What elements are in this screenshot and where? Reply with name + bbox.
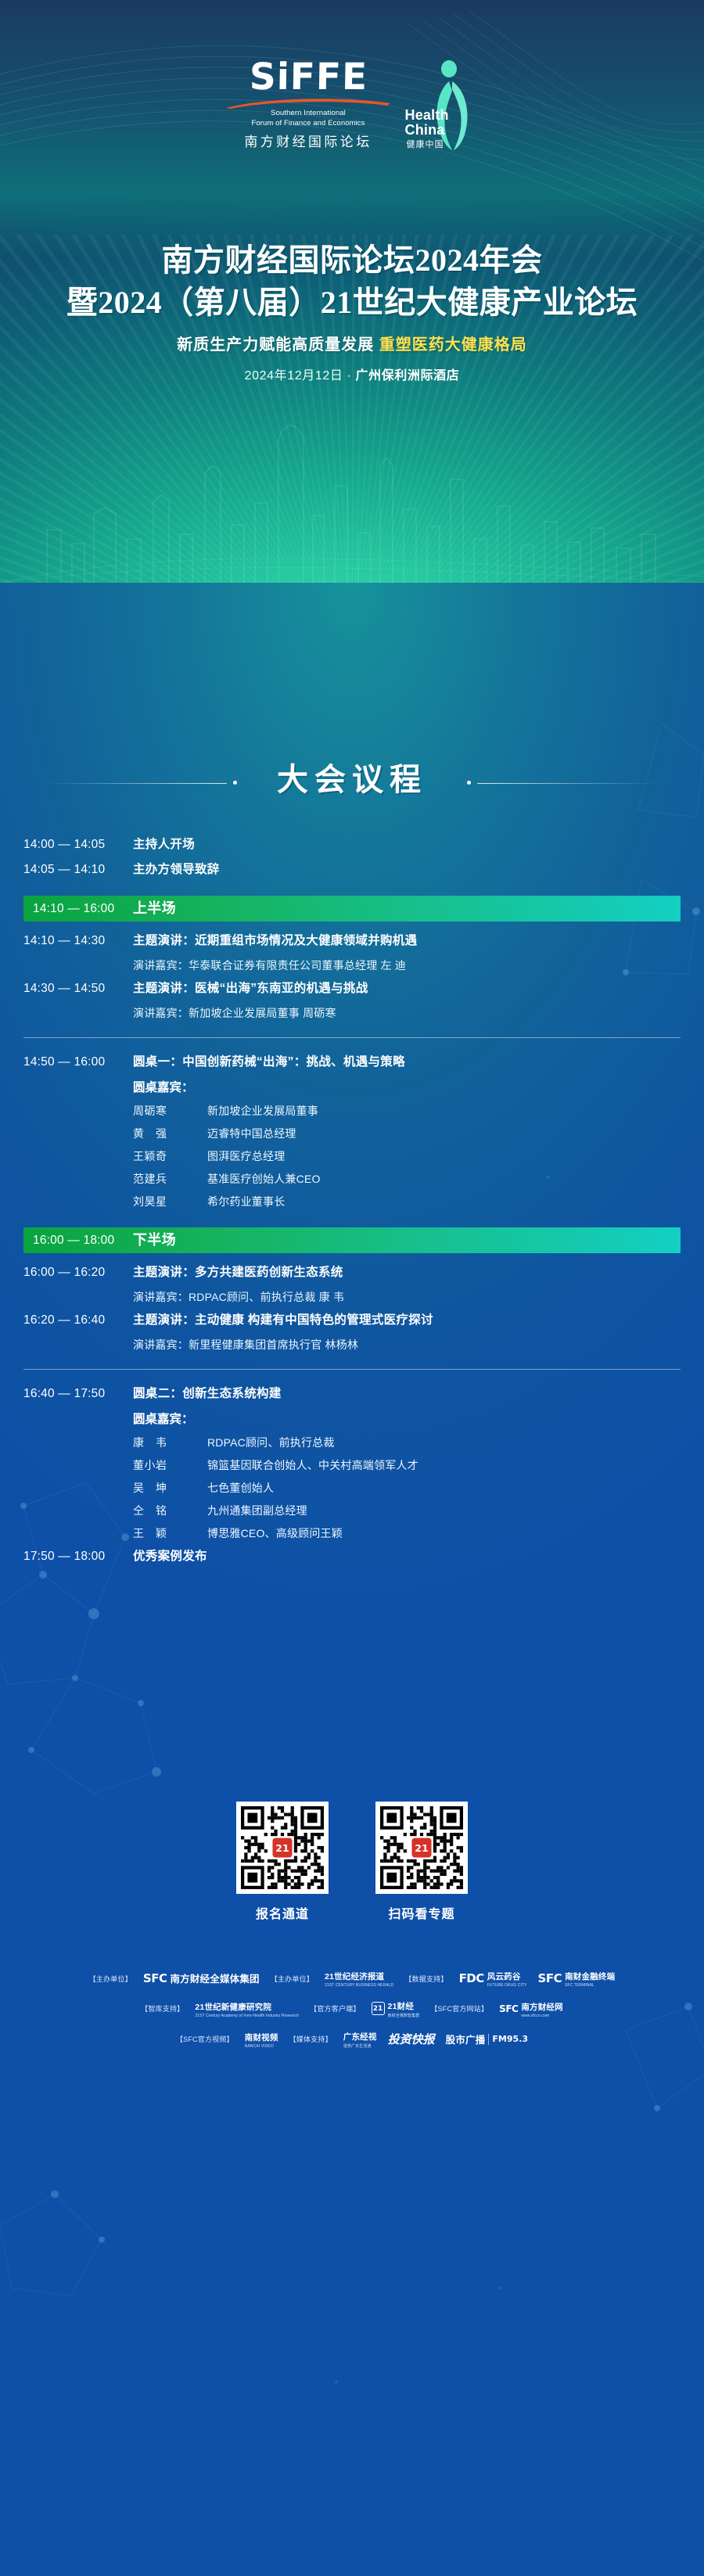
agenda-guest-name: 仝 铭 [133, 1500, 207, 1522]
agenda-guest: 王颖奇图湃医疗总经理 [133, 1145, 321, 1168]
heading-rule-left [47, 783, 227, 784]
sponsor-category-label: 【官方客户端】 [310, 2003, 360, 2014]
agenda-section-title: 下半场 [133, 1227, 176, 1253]
sponsor-name-cn: 21财经 [388, 2002, 414, 2011]
sponsor-category-label: 【主办单位】 [271, 1974, 314, 1984]
siffe-chinese: 南方财经国际论坛 [224, 131, 393, 150]
agenda-guest-role: 图湃医疗总经理 [207, 1145, 285, 1168]
agenda-row-title: 圆桌一：中国创新药械“出海”：挑战、机遇与策略 [133, 1051, 405, 1074]
subtitle-yellow-part: 重塑医药大健康格局 [379, 336, 527, 354]
health-china-text: Health China [405, 108, 449, 138]
sponsor-mark: SFC [538, 1971, 562, 1985]
agenda-guest-name: 王 颖 [133, 1522, 207, 1545]
sponsor-row: 【SFC官方视频】南财视频NANCAI VIDEO【媒体支持】广东经视强势广东生… [0, 2029, 704, 2049]
agenda-row-title: 主题演讲：主动健康 构建有中国特色的管理式医疗探讨 [133, 1309, 433, 1332]
sponsor-name-block: 南方财经网www.sfccn.com [521, 1999, 563, 2018]
agenda-row-title: 主题演讲：医械“出海”东南亚的机遇与挑战 [133, 977, 368, 1001]
agenda-guest: 范建兵基准医疗创始人兼CEO [133, 1168, 321, 1191]
sponsor-logo[interactable]: 2121财经南财全媒数智集群 [372, 1999, 420, 2018]
siffe-wordmark: SiFFE [224, 59, 393, 95]
agenda-speaker-row: 演讲嘉宾：新加坡企业发展局董事 周砺寒 [0, 1002, 704, 1025]
sponsor-category-label: 【媒体支持】 [289, 2034, 332, 2044]
agenda-guest: 吴 坤七色董创始人 [133, 1477, 418, 1500]
sponsor-logo[interactable]: 21世纪新健康研究院21ST Century Academy of Inno-H… [195, 1999, 299, 2018]
agenda-section-title: 上半场 [133, 896, 176, 922]
sponsor-name-cn: 南财视频 [245, 2033, 278, 2042]
agenda-speaker: 演讲嘉宾：华泰联合证券有限责任公司董事总经理 左 迪 [133, 954, 406, 977]
agenda-guests-label-row: 圆桌嘉宾： [0, 1407, 704, 1432]
agenda-row-title: 圆桌二：创新生态系统构建 [133, 1382, 282, 1406]
poster-date-venue: 2024年12月12日 · 广州保利洲际酒店 [0, 365, 704, 383]
agenda-guest-role: 基准医疗创始人兼CEO [207, 1168, 321, 1191]
agenda-guests-list: 康 韦RDPAC顾问、前执行总裁董小岩锦篮基因联合创始人、中关村高端领军人才吴 … [133, 1432, 418, 1545]
agenda-guests-label: 圆桌嘉宾： [133, 1407, 194, 1432]
qr-block[interactable]: 21报名通道 [236, 1802, 329, 1922]
sponsor-logo[interactable]: SFC南财金融终端SFC TERMINAL [538, 1969, 616, 1988]
sponsor-name-block: 21世纪经济报道21ST CENTURY BUSINESS HERALD [325, 1969, 393, 1988]
sponsor-name-cn: 南方财经网 [521, 2003, 563, 2012]
sponsor-row: 【智库支持】21世纪新健康研究院21ST Century Academy of … [0, 1999, 704, 2018]
agenda-row-title: 优秀案例发布 [133, 1545, 207, 1568]
sponsor-logo[interactable]: 投资快报 [388, 2031, 435, 2047]
agenda-list: 14:00 — 14:05主持人开场14:05 — 14:10主办方领导致辞14… [0, 833, 704, 1570]
agenda-row-title: 主办方领导致辞 [133, 858, 220, 882]
agenda-divider [23, 1369, 681, 1370]
sponsor-name-block: 南方财经全媒体集团 [170, 1971, 259, 1986]
sponsor-name-en: 21ST CENTURY BUSINESS HERALD [325, 1983, 393, 1988]
agenda-guest-role: 新加坡企业发展局董事 [207, 1100, 318, 1123]
sponsor-fm: FM95.3 [492, 2034, 528, 2044]
sponsor-mark: FDC [459, 1971, 484, 1985]
event-date: 2024年12月12日 [245, 369, 343, 383]
agenda-row: 16:20 — 16:40主题演讲：主动健康 构建有中国特色的管理式医疗探讨 [0, 1309, 704, 1332]
heading-rule-right [477, 783, 657, 784]
sponsor-name-en: NANCAI VIDEO [245, 2044, 278, 2049]
agenda-guest: 刘昊星希尔药业董事长 [133, 1191, 321, 1213]
agenda-guest-role: 锦篮基因联合创始人、中关村高端领军人才 [207, 1454, 418, 1477]
agenda-guest-role: 迈睿特中国总经理 [207, 1123, 296, 1145]
agenda-speaker: 演讲嘉宾：RDPAC顾问、前执行总裁 康 韦 [133, 1286, 344, 1309]
qr-code-row: 21报名通道21扫码看专题 [0, 1802, 704, 1922]
sponsor-name-block: 广东经视强势广东生活通 [343, 2029, 377, 2049]
qr-caption: 扫码看专题 [375, 1903, 468, 1922]
heading-dot-left [233, 781, 237, 785]
agenda-speaker: 演讲嘉宾：新里程健康集团首席执行官 林杨林 [133, 1334, 358, 1356]
sponsor-category-label: 【智库支持】 [141, 2003, 184, 2014]
siffe-english-line2: Forum of Finance and Economics [224, 119, 393, 128]
agenda-row-time: 14:00 — 14:05 [23, 833, 133, 857]
qr-code-icon[interactable]: 21 [375, 1802, 468, 1894]
agenda-row: 14:10 — 14:30主题演讲：近期重组市场情况及大健康领域并购机遇 [0, 929, 704, 953]
sponsor-name-en: SFC TERMINAL [565, 1983, 615, 1988]
subtitle-white-part: 新质生产力赋能高质量发展 [177, 336, 374, 354]
agenda-row-time: 16:40 — 17:50 [23, 1382, 133, 1406]
siffe-english-line1: Southern International [224, 109, 393, 118]
agenda-guest-role: 九州通集团副总经理 [207, 1500, 307, 1522]
qr-code-icon[interactable]: 21 [236, 1802, 329, 1894]
poster-subtitle: 新质生产力赋能高质量发展 重塑医药大健康格局 [0, 332, 704, 354]
agenda-guest-name: 王颖奇 [133, 1145, 207, 1168]
sponsor-name-en: 南财全媒数智集群 [388, 2013, 420, 2018]
agenda-guest-name: 周砺寒 [133, 1100, 207, 1123]
sponsor-name-cn: 股市广播 [446, 2035, 486, 2046]
logo-row: SiFFE Southern International Forum of Fi… [0, 49, 704, 150]
date-venue-separator: · [347, 369, 352, 383]
agenda-guest-name: 康 韦 [133, 1432, 207, 1454]
agenda-guest-role: RDPAC顾问、前执行总裁 [207, 1432, 335, 1454]
agenda-row: 14:05 — 14:10主办方领导致辞 [0, 858, 704, 882]
agenda-row: 17:50 — 18:00优秀案例发布 [0, 1545, 704, 1568]
sponsor-category-label: 【SFC官方网站】 [430, 2003, 488, 2014]
agenda-row: 14:50 — 16:00圆桌一：中国创新药械“出海”：挑战、机遇与策略 [0, 1051, 704, 1074]
agenda-row: 16:40 — 17:50圆桌二：创新生态系统构建 [0, 1382, 704, 1406]
sponsor-name-en: 21ST Century Academy of Inno-Health Indu… [195, 2014, 299, 2018]
sponsor-category-label: 【主办单位】 [89, 1974, 132, 1984]
divider-line [488, 2034, 489, 2045]
sponsor-name-block: 21财经南财全媒数智集群 [388, 1999, 420, 2018]
svg-text:21: 21 [275, 1842, 289, 1854]
agenda-row-time: 14:30 — 14:50 [23, 977, 133, 1001]
poster-root: SiFFE Southern International Forum of Fi… [0, 0, 704, 2576]
agenda-row-title: 主题演讲：近期重组市场情况及大健康领域并购机遇 [133, 929, 417, 953]
agenda-row: 16:00 — 16:20主题演讲：多方共建医药创新生态系统 [0, 1261, 704, 1284]
sponsor-name-block: 南财金融终端SFC TERMINAL [565, 1969, 615, 1988]
poster-title-line1: 南方财经国际论坛2024年会 [0, 235, 704, 280]
agenda-row-time: 14:05 — 14:10 [23, 858, 133, 882]
sponsor-logo[interactable]: 南财视频NANCAI VIDEO [245, 2030, 278, 2049]
sponsor-name-en: 强势广东生活通 [343, 2043, 377, 2049]
sponsor-name-cn: 广东经视 [343, 2032, 377, 2042]
sponsor-name-cn: 南财金融终端 [565, 1972, 615, 1981]
sponsor-name-cn: 风云药谷 [487, 1972, 521, 1981]
agenda-guest-name: 黄 强 [133, 1123, 207, 1145]
badge-21-icon: 21 [372, 2002, 385, 2015]
agenda-guest-role: 七色董创始人 [207, 1477, 274, 1500]
sponsor-name-en: FUTURE DRUG CITY [487, 1983, 527, 1988]
sponsor-mark: SFC [143, 1971, 167, 1985]
agenda-guest: 董小岩锦篮基因联合创始人、中关村高端领军人才 [133, 1454, 418, 1477]
agenda-row-time: 16:20 — 16:40 [23, 1309, 133, 1332]
agenda-row-time: 14:10 — 14:30 [23, 929, 133, 953]
agenda-guests-list: 周砺寒新加坡企业发展局董事黄 强迈睿特中国总经理王颖奇图湃医疗总经理范建兵基准医… [133, 1100, 321, 1213]
sponsor-footer: 【主办单位】SFC南方财经全媒体集团【主办单位】21世纪经济报道21ST CEN… [0, 1969, 704, 2060]
sponsor-mark: SFC [499, 2003, 518, 2014]
agenda-guest: 康 韦RDPAC顾问、前执行总裁 [133, 1432, 418, 1454]
heading-dot-right [467, 781, 471, 785]
sponsor-logo[interactable]: FDC风云药谷FUTURE DRUG CITY [459, 1969, 527, 1988]
health-china-chinese: 健康中国 [407, 138, 444, 150]
sponsor-logo[interactable]: 广东经视强势广东生活通 [343, 2029, 377, 2049]
sponsor-category-label: 【数据支持】 [404, 1974, 447, 1984]
health-line1: Health [405, 107, 449, 123]
agenda-section-bar: 16:00 — 18:00下半场 [23, 1227, 681, 1253]
agenda-speaker-row: 演讲嘉宾：华泰联合证券有限责任公司董事总经理 左 迪 [0, 954, 704, 977]
sponsor-name-en: www.sfccn.com [521, 2014, 563, 2018]
sponsor-logo[interactable]: SFC南方财经全媒体集团 [143, 1971, 260, 1986]
agenda-row-title: 主持人开场 [133, 833, 195, 857]
siffe-swoosh-icon [224, 98, 393, 108]
sponsor-name-block: 股市广播 [446, 2032, 486, 2047]
agenda-speaker-row: 演讲嘉宾：RDPAC顾问、前执行总裁 康 韦 [0, 1286, 704, 1309]
agenda-guest-name: 吴 坤 [133, 1477, 207, 1500]
hero-banner: SiFFE Southern International Forum of Fi… [0, 0, 704, 583]
agenda-divider [23, 1037, 681, 1038]
sponsor-name-block: 21世纪新健康研究院21ST Century Academy of Inno-H… [195, 1999, 299, 2018]
agenda-row-time: 17:50 — 18:00 [23, 1545, 133, 1568]
sponsor-name-cn: 21世纪经济报道 [325, 1972, 384, 1981]
qr-block[interactable]: 21扫码看专题 [375, 1802, 468, 1922]
sponsor-logo[interactable]: 股市广播FM95.3 [446, 2032, 528, 2047]
health-china-logo: Health China 健康中国 [405, 58, 480, 150]
siffe-logo: SiFFE Southern International Forum of Fi… [224, 59, 393, 150]
agenda-section-time: 14:10 — 16:00 [23, 896, 133, 922]
agenda-guest: 黄 强迈睿特中国总经理 [133, 1123, 321, 1145]
health-line2: China [405, 122, 445, 138]
agenda-heading: 大会议程 [277, 754, 427, 799]
agenda-row-time: 14:50 — 16:00 [23, 1051, 133, 1074]
sponsor-row: 【主办单位】SFC南方财经全媒体集团【主办单位】21世纪经济报道21ST CEN… [0, 1969, 704, 1988]
agenda-section-bar: 14:10 — 16:00上半场 [23, 896, 681, 922]
agenda-row: 14:00 — 14:05主持人开场 [0, 833, 704, 857]
agenda-guest: 王 颖博思雅CEO、高级顾问王颖 [133, 1522, 418, 1545]
sponsor-name-block: 南财视频NANCAI VIDEO [245, 2030, 278, 2049]
sponsor-logo[interactable]: SFC南方财经网www.sfccn.com [499, 1999, 563, 2018]
city-skyline-decoration [0, 348, 704, 583]
agenda-row: 14:30 — 14:50主题演讲：医械“出海”东南亚的机遇与挑战 [0, 977, 704, 1001]
sponsor-logo[interactable]: 21世纪经济报道21ST CENTURY BUSINESS HERALD [325, 1969, 393, 1988]
agenda-speaker-row: 演讲嘉宾：新里程健康集团首席执行官 林杨林 [0, 1334, 704, 1356]
agenda-section: 大会议程 14:00 — 14:05主持人开场14:05 — 14:10主办方领… [0, 583, 704, 2576]
svg-text:21: 21 [415, 1842, 428, 1854]
agenda-row-title: 主题演讲：多方共建医药创新生态系统 [133, 1261, 343, 1284]
agenda-guest-role: 博思雅CEO、高级顾问王颖 [207, 1522, 343, 1545]
agenda-guest-role: 希尔药业董事长 [207, 1191, 285, 1213]
agenda-guest-name: 范建兵 [133, 1168, 207, 1191]
sponsor-category-label: 【SFC官方视频】 [176, 2034, 234, 2044]
sponsor-brush-name: 投资快报 [388, 2031, 435, 2047]
agenda-guests-row: 周砺寒新加坡企业发展局董事黄 强迈睿特中国总经理王颖奇图湃医疗总经理范建兵基准医… [0, 1100, 704, 1213]
qr-caption: 报名通道 [236, 1903, 329, 1922]
sponsor-name-block: 风云药谷FUTURE DRUG CITY [487, 1969, 527, 1988]
agenda-guest-name: 董小岩 [133, 1454, 207, 1477]
agenda-guest: 周砺寒新加坡企业发展局董事 [133, 1100, 321, 1123]
sponsor-name-cn: 南方财经全媒体集团 [170, 1974, 259, 1985]
agenda-guest-name: 刘昊星 [133, 1191, 207, 1213]
poster-title-line2: 暨2024（第八届）21世纪大健康产业论坛 [0, 277, 704, 322]
agenda-guests-row: 康 韦RDPAC顾问、前执行总裁董小岩锦篮基因联合创始人、中关村高端领军人才吴 … [0, 1432, 704, 1545]
agenda-speaker: 演讲嘉宾：新加坡企业发展局董事 周砺寒 [133, 1002, 336, 1025]
event-venue: 广州保利洲际酒店 [356, 369, 460, 383]
sponsor-name-cn: 21世纪新健康研究院 [195, 2003, 271, 2012]
agenda-guest: 仝 铭九州通集团副总经理 [133, 1500, 418, 1522]
agenda-row-time: 16:00 — 16:20 [23, 1261, 133, 1284]
agenda-guests-label-row: 圆桌嘉宾： [0, 1076, 704, 1100]
agenda-section-time: 16:00 — 18:00 [23, 1227, 133, 1253]
agenda-heading-block: 大会议程 [0, 754, 704, 799]
agenda-guests-label: 圆桌嘉宾： [133, 1076, 194, 1100]
